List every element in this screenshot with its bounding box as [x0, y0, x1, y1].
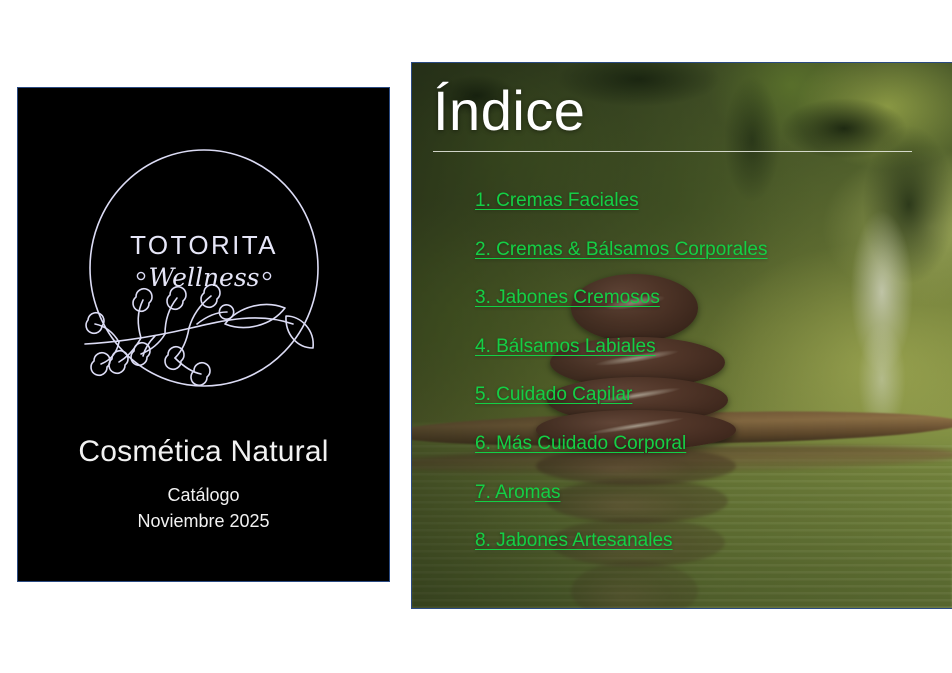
logo-dot-left [137, 272, 144, 279]
index-title: Índice [433, 83, 585, 139]
cover-date: Noviembre 2025 [18, 508, 389, 534]
logo-dot-right [263, 272, 270, 279]
index-title-divider [433, 151, 912, 152]
list-item[interactable]: 5. Cuidado Capilar [475, 385, 942, 434]
list-item[interactable]: 7. Aromas [475, 483, 942, 532]
index-link-jabones-artesanales[interactable]: 8. Jabones Artesanales [475, 531, 673, 551]
list-item[interactable]: 2. Cremas & Bálsamos Corporales [475, 240, 942, 289]
index-content: Índice 1. Cremas Faciales 2. Cremas & Bá… [412, 63, 952, 608]
index-link-cuidado-capilar[interactable]: 5. Cuidado Capilar [475, 385, 632, 405]
logo-brand-name: TOTORITA [130, 230, 278, 260]
list-item[interactable]: 6. Más Cuidado Corporal [475, 434, 942, 483]
index-link-cremas-faciales[interactable]: 1. Cremas Faciales [475, 191, 639, 211]
cover-text-block: Cosmética Natural Catálogo Noviembre 202… [18, 435, 389, 534]
logo-brand-script: Wellness [148, 263, 259, 292]
index-slide[interactable]: Índice 1. Cremas Faciales 2. Cremas & Bá… [411, 62, 952, 609]
index-link-aromas[interactable]: 7. Aromas [475, 483, 561, 503]
list-item[interactable]: 3. Jabones Cremosos [475, 288, 942, 337]
index-list: 1. Cremas Faciales 2. Cremas & Bálsamos … [475, 191, 942, 580]
list-item[interactable]: 1. Cremas Faciales [475, 191, 942, 240]
cover-title: Cosmética Natural [18, 435, 389, 468]
index-link-jabones-cremosos[interactable]: 3. Jabones Cremosos [475, 288, 660, 308]
index-link-balsamos-labiales[interactable]: 4. Bálsamos Labiales [475, 337, 656, 357]
index-link-mas-cuidado-corporal[interactable]: 6. Más Cuidado Corporal [475, 434, 686, 454]
index-link-cremas-balsamos-corporales[interactable]: 2. Cremas & Bálsamos Corporales [475, 240, 768, 260]
list-item[interactable]: 4. Bálsamos Labiales [475, 337, 942, 386]
brand-logo: TOTORITA Wellness [18, 146, 389, 396]
cover-subtitle: Catálogo [18, 482, 389, 508]
cover-slide[interactable]: TOTORITA Wellness Cosmética Natural Catá… [17, 87, 390, 582]
list-item[interactable]: 8. Jabones Artesanales [475, 531, 942, 580]
